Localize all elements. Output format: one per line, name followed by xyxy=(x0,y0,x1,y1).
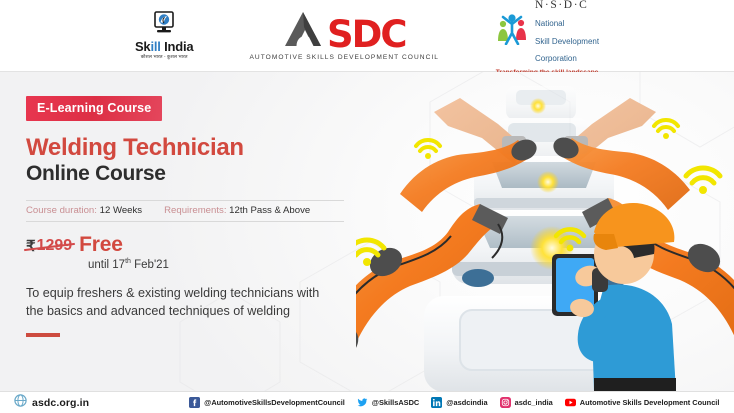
course-promo-poster: Skill India कौशल भारत - कुशल भारत SDC xyxy=(0,0,734,413)
asdc-wordmark: SDC xyxy=(327,19,406,52)
current-price: Free xyxy=(79,233,123,257)
logo-asdc: SDC AUTOMOTIVE SKILLS DEVELOPMENT COUNCI… xyxy=(249,11,439,61)
footer-social-twitter[interactable]: @SkillsASDC xyxy=(357,397,419,408)
footer-social-instagram-handle: asdc_india xyxy=(515,398,553,407)
asdc-wordmark-row: SDC xyxy=(283,11,406,52)
signal-icon-mid-right xyxy=(654,120,678,139)
weld-spark-far xyxy=(530,98,546,114)
footer-bar: asdc.org.in @AutomotiveSkillsDevelopment… xyxy=(0,391,734,413)
course-duration-value: 12 Weeks xyxy=(100,205,142,216)
rupee-symbol: ₹ xyxy=(26,237,36,255)
footer-social-youtube-handle: Automotive Skills Development Council xyxy=(580,398,720,407)
nsdc-text-block: N·S·D·C National Skill Development Corpo… xyxy=(535,0,599,66)
nsdc-initials: N·S·D·C xyxy=(535,0,588,11)
footer-website-text: asdc.org.in xyxy=(32,397,89,409)
course-description: To equip freshers & existing welding tec… xyxy=(26,284,326,321)
nsdc-people-icon xyxy=(495,11,529,50)
skill-india-name: Skill India xyxy=(135,40,194,54)
skill-india-subtitle: कौशल भारत - कुशल भारत xyxy=(141,54,188,60)
nsdc-line2: Skill Development xyxy=(535,37,599,46)
logo-nsdc: N·S·D·C National Skill Development Corpo… xyxy=(495,0,599,76)
globe-icon xyxy=(14,394,27,412)
course-type-badge: E-Learning Course xyxy=(26,96,162,121)
asdc-subtitle: AUTOMOTIVE SKILLS DEVELOPMENT COUNCIL xyxy=(249,54,439,61)
course-duration: Course duration: 12 Weeks xyxy=(26,205,142,216)
course-title-secondary: Online Course xyxy=(26,163,356,185)
course-copy: E-Learning Course Welding Technician Onl… xyxy=(26,96,356,337)
footer-social-linkedin-handle: @asdcindia xyxy=(446,398,487,407)
footer-website[interactable]: asdc.org.in xyxy=(14,394,89,412)
signal-icon-right xyxy=(686,168,720,194)
skill-india-monitor-icon xyxy=(149,11,179,39)
price-row: ₹1299 Free xyxy=(26,233,356,257)
nsdc-line1: National xyxy=(535,19,564,28)
nsdc-top-row: N·S·D·C National Skill Development Corpo… xyxy=(495,0,599,66)
asdc-arch-a-icon xyxy=(283,11,327,52)
original-price: ₹1299 xyxy=(26,237,72,255)
footer-social-youtube[interactable]: Automotive Skills Development Council xyxy=(565,397,720,408)
course-requirements-label: Requirements: xyxy=(164,205,226,216)
weld-spark-mid xyxy=(537,171,559,193)
footer-social-instagram[interactable]: asdc_india xyxy=(500,397,553,408)
footer-social-facebook[interactable]: @AutomotiveSkillsDevelopmentCouncil xyxy=(189,397,345,408)
main-banner: E-Learning Course Welding Technician Onl… xyxy=(0,72,734,391)
course-title-primary: Welding Technician xyxy=(26,135,356,160)
youtube-icon xyxy=(565,397,576,408)
instagram-icon xyxy=(500,397,511,408)
accent-underline xyxy=(26,333,60,337)
facebook-icon xyxy=(189,397,200,408)
linkedin-icon xyxy=(431,397,442,408)
course-duration-label: Course duration: xyxy=(26,205,97,216)
offer-deadline-suffix: Feb'21 xyxy=(131,259,169,271)
signal-icon-mid-left xyxy=(416,140,440,159)
course-meta-row: Course duration: 12 Weeks Requirements: … xyxy=(26,200,344,222)
logo-skill-india: Skill India कौशल भारत - कुशल भारत xyxy=(135,11,194,61)
offer-deadline: until 17th Feb'21 xyxy=(88,258,356,271)
logo-row: Skill India कौशल भारत - कुशल भारत SDC xyxy=(135,0,599,76)
footer-social-linkedin[interactable]: @asdcindia xyxy=(431,397,487,408)
course-requirements: Requirements: 12th Pass & Above xyxy=(164,205,310,216)
footer-socials: @AutomotiveSkillsDevelopmentCouncil @Ski… xyxy=(189,397,719,408)
nsdc-line3: Corporation xyxy=(535,54,577,63)
twitter-icon xyxy=(357,397,368,408)
worker-with-tablet xyxy=(552,203,676,391)
offer-deadline-prefix: until 17 xyxy=(88,259,125,271)
course-requirements-value: 12th Pass & Above xyxy=(229,205,310,216)
header-logo-bar: Skill India कौशल भारत - कुशल भारत SDC xyxy=(0,0,734,72)
footer-social-twitter-handle: @SkillsASDC xyxy=(372,398,419,407)
robotic-welding-artwork xyxy=(356,72,734,391)
footer-social-facebook-handle: @AutomotiveSkillsDevelopmentCouncil xyxy=(204,398,345,407)
